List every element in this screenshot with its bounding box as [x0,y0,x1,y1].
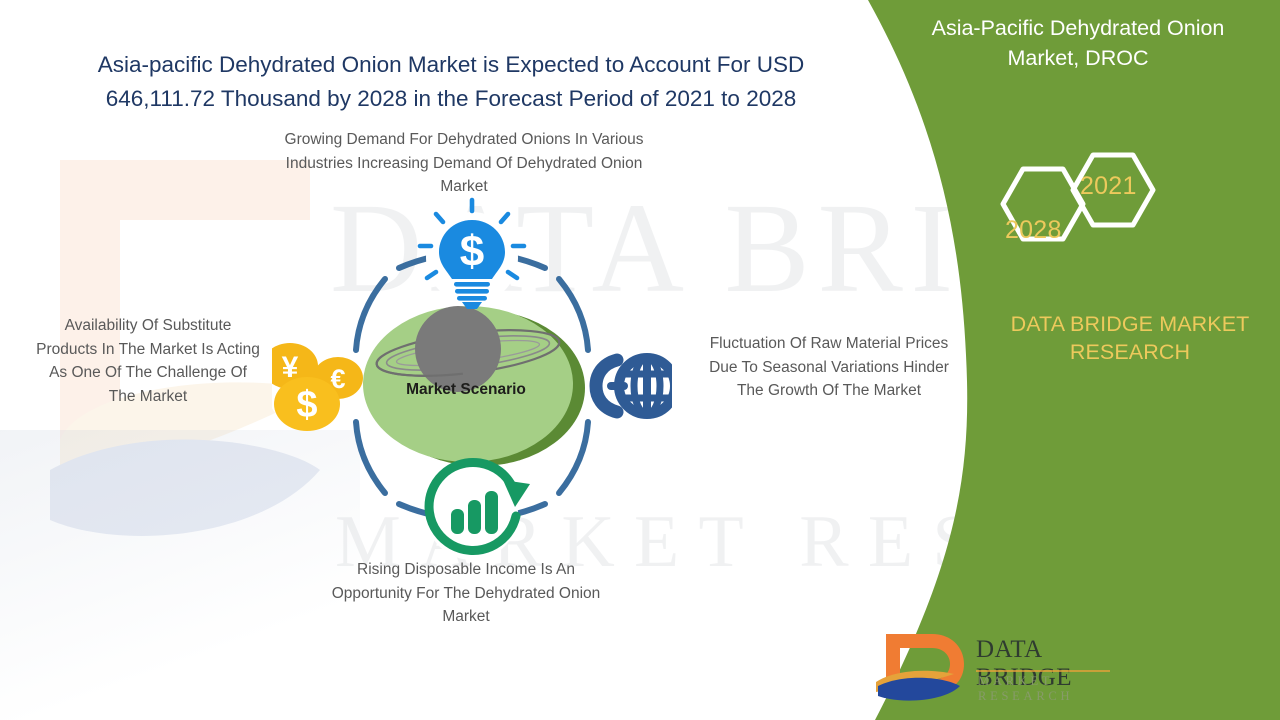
callout-top-driver: Growing Demand For Dehydrated Onions In … [278,128,650,199]
hexagon-label-2028: 2028 [1005,216,1062,245]
node-top: $ [420,200,524,309]
hexagon-label-2021: 2021 [1080,172,1137,201]
node-right [596,342,672,430]
panel-title: Asia-Pacific Dehydrated Onion Market, DR… [900,14,1256,73]
globe-world-icon [596,358,672,414]
callout-right-restraint: Fluctuation Of Raw Material Prices Due T… [704,332,954,403]
callout-left-challenge: Availability Of Substitute Products In T… [36,314,260,408]
node-left: ¥ € $ [272,342,363,431]
node-bottom [426,462,530,560]
slide-canvas: DATA BRIDGE MARKET RESEARCH Asia-Pacific… [0,0,1280,720]
page-title: Asia-pacific Dehydrated Onion Market is … [46,48,856,116]
panel-brand-text: DATA BRIDGE MARKET RESEARCH [985,310,1275,367]
center-label: Market Scenario [396,378,536,402]
svg-text:$: $ [296,384,317,426]
svg-text:$: $ [460,227,484,276]
logo-divider [976,670,1110,672]
callout-bottom-opportunity: Rising Disposable Income Is An Opportuni… [324,558,608,629]
logo-mark-icon [872,630,968,704]
logo-tagline: MARKET RESEARCH [978,674,1112,704]
hexagon-group: 2028 2021 [985,142,1175,267]
data-bridge-logo: DATA BRIDGE MARKET RESEARCH [872,628,1112,706]
